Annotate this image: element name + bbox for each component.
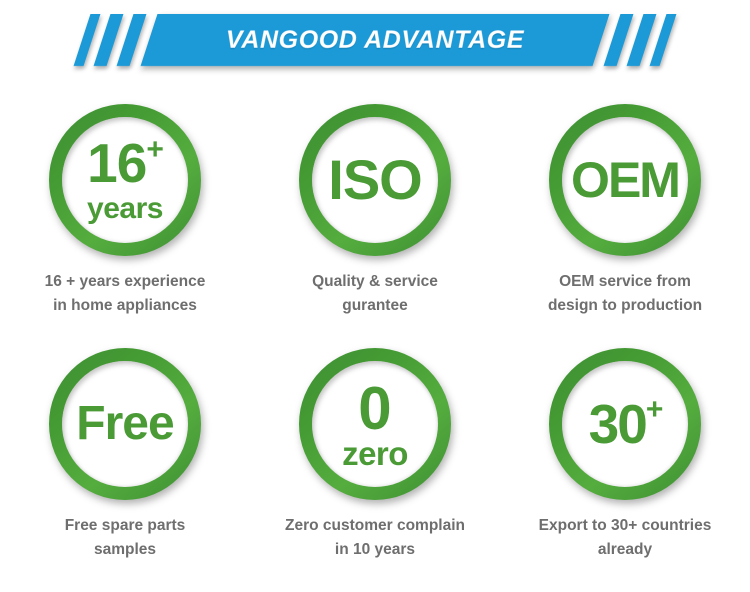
caption-line-1: 16 + years experience [45,270,206,294]
banner: VANGOOD ADVANTAGE [0,14,750,66]
badge-ring-icon: 30+ [549,348,701,500]
badge-ring-icon: ISO [299,104,451,256]
banner-title: VANGOOD ADVANTAGE [226,26,524,55]
badge-main-text: 30 [589,393,646,455]
advantage-infographic: VANGOOD ADVANTAGE 16+ years 16 + years e… [0,0,750,592]
badge-label: OEM [571,155,679,205]
banner-bar: VANGOOD ADVANTAGE [141,14,610,66]
advantage-item-zero-complaints: 0 zero Zero customer complain in 10 year… [250,348,500,592]
advantage-item-years-experience: 16+ years 16 + years experience in home … [0,104,250,348]
caption-line-2: in home appliances [45,294,206,318]
badge-superscript: + [646,393,662,426]
advantage-caption: Free spare parts samples [65,514,186,562]
caption-line-1: Quality & service [312,270,438,294]
banner-stripes-left [77,14,143,66]
advantage-item-export-countries: 30+ Export to 30+ countries already [500,348,750,592]
advantage-caption: 16 + years experience in home appliances [45,270,206,318]
caption-line-2: in 10 years [285,538,465,562]
badge-main-text: 0 [358,379,391,439]
advantage-caption: Export to 30+ countries already [539,514,712,562]
badge-label: 30+ [589,397,662,452]
badge-label: ISO [328,152,421,208]
badge-label: 16+ years [87,136,163,224]
caption-line-2: already [539,538,712,562]
caption-line-1: Export to 30+ countries [539,514,712,538]
caption-line-2: gurantee [312,294,438,318]
advantage-item-oem-service: OEM OEM service from design to productio… [500,104,750,348]
banner-row: VANGOOD ADVANTAGE [0,14,750,66]
advantage-caption: Zero customer complain in 10 years [285,514,465,562]
badge-sub-text: zero [342,437,408,470]
advantage-item-iso-quality: ISO Quality & service gurantee [250,104,500,348]
caption-line-1: OEM service from [548,270,702,294]
banner-stripes-right [607,14,673,66]
badge-label: Free [76,400,173,448]
badge-main-text: ISO [328,152,421,208]
badge-main-text: 16 [87,132,146,194]
caption-line-1: Zero customer complain [285,514,465,538]
advantage-item-free-spare-parts: Free Free spare parts samples [0,348,250,592]
badge-ring-icon: 16+ years [49,104,201,256]
badge-main-row: 30+ [589,397,662,452]
advantage-caption: Quality & service gurantee [312,270,438,318]
badge-ring-icon: 0 zero [299,348,451,500]
caption-line-2: samples [65,538,186,562]
advantage-caption: OEM service from design to production [548,270,702,318]
badge-ring-icon: OEM [549,104,701,256]
badge-main-text: Free [76,400,173,448]
caption-line-2: design to production [548,294,702,318]
badge-sub-text: years [87,194,163,224]
badge-ring-icon: Free [49,348,201,500]
badge-main-text: OEM [571,155,679,205]
badge-main-row: 16+ [87,136,163,191]
advantage-grid: 16+ years 16 + years experience in home … [0,104,750,592]
badge-label: 0 zero [342,379,408,470]
badge-superscript: + [146,133,163,166]
caption-line-1: Free spare parts [65,514,186,538]
